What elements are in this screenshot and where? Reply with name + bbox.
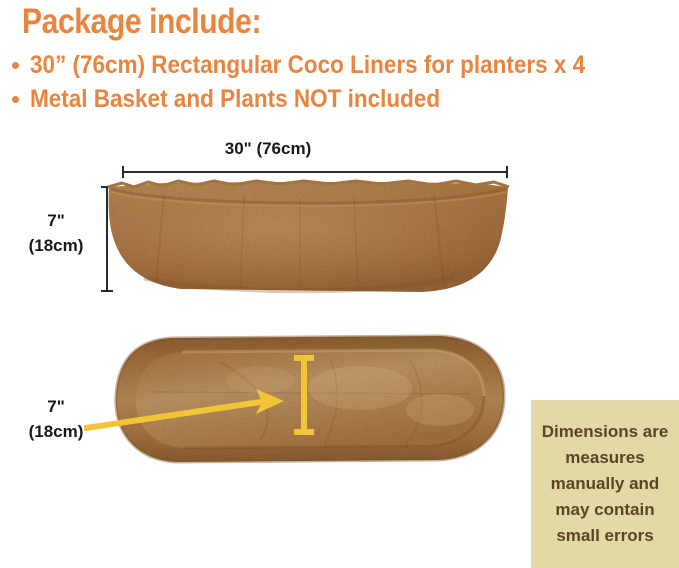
height-dimension-label-inches: 7" (8, 208, 104, 233)
height-dimension-label: 7" (18cm) (8, 208, 104, 258)
product-infographic: Package include: 30” (76cm) Rectangular … (0, 0, 679, 568)
height-dimension-label-cm: (18cm) (8, 233, 104, 258)
package-include-list: 30” (76cm) Rectangular Coco Liners for p… (8, 48, 668, 116)
width-dimension-label: 30" (76cm) (198, 139, 338, 159)
disclaimer-callout: Dimensions are measures manually and may… (531, 400, 679, 568)
list-item-label: Metal Basket and Plants NOT included (30, 82, 440, 116)
list-item: Metal Basket and Plants NOT included (8, 82, 668, 116)
bullet-dot-icon (12, 96, 19, 103)
list-item-label: 30” (76cm) Rectangular Coco Liners for p… (30, 48, 585, 82)
depth-callout-arrow-icon (84, 388, 292, 434)
disclaimer-text: Dimensions are measures manually and may… (539, 419, 671, 549)
coco-liner-side-view-image (104, 178, 519, 300)
bullet-dot-icon (12, 62, 19, 69)
list-item: 30” (76cm) Rectangular Coco Liners for p… (8, 48, 668, 82)
depth-dimension-rule (301, 355, 307, 435)
width-dimension-rule (122, 171, 508, 173)
page-title: Package include: (22, 3, 261, 41)
